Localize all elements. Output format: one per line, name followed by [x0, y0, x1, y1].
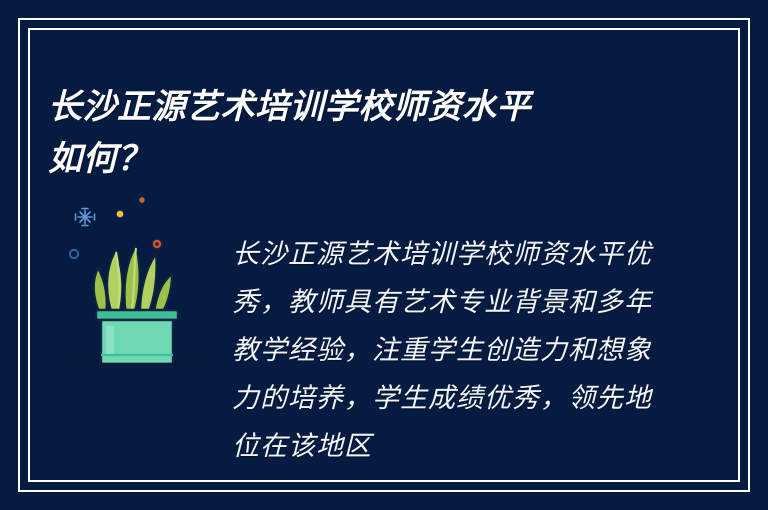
ring-sparkle-blue — [70, 250, 78, 258]
potted-plant-illustration — [62, 192, 212, 372]
plant-leaves — [94, 246, 172, 314]
poster-canvas: 长沙正源艺术培训学校师资水平 如何？ — [0, 0, 768, 510]
body-paragraph: 长沙正源艺术培训学校师资水平优秀，教师具有艺术专业背景和多年教学经验，注重学生创… — [232, 231, 652, 471]
snowflake-sparkle — [76, 209, 95, 226]
dot-sparkle-orange — [139, 197, 146, 204]
page-title: 长沙正源艺术培训学校师资水平 如何？ — [48, 81, 668, 186]
dot-sparkle-yellow — [116, 210, 124, 218]
dot-sparkle-red — [152, 239, 162, 249]
plant-pot — [96, 310, 178, 364]
